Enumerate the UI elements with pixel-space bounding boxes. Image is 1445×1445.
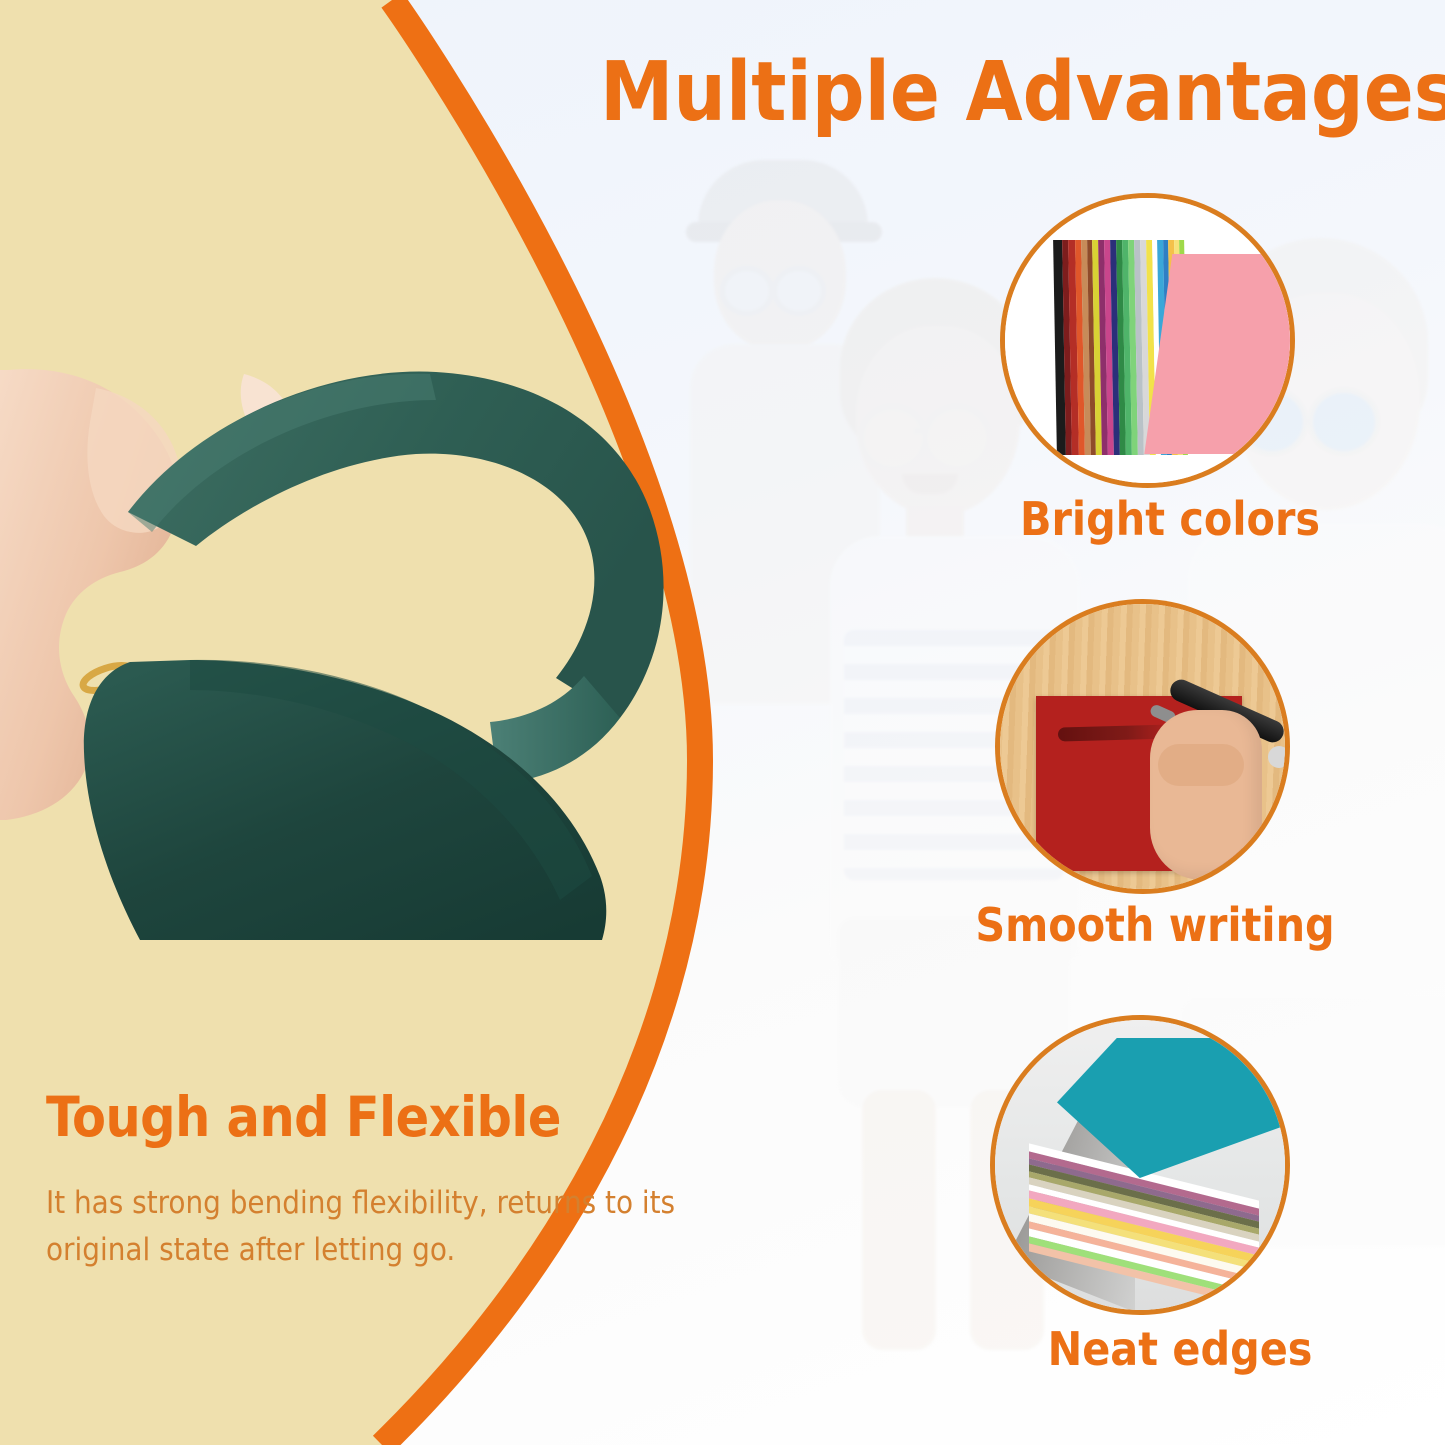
sunglass-lens-left	[858, 404, 928, 472]
sunglass-lens-right	[922, 404, 992, 472]
product-advantages-infographic: Multiple Advantages Tough and Flexible I…	[0, 0, 1445, 1445]
pen-cap	[1268, 746, 1285, 768]
knuckles-shade	[1158, 744, 1244, 786]
feature-label-smooth-writing: Smooth writing	[940, 898, 1370, 952]
fanned-sheets-group	[1044, 240, 1290, 455]
page-title: Multiple Advantages	[600, 52, 1445, 134]
left-panel-heading: Tough and Flexible	[46, 1085, 706, 1149]
feature-label-bright-colors: Bright colors	[960, 492, 1380, 546]
feature-image-neat-edges	[995, 1020, 1285, 1310]
hand-bending-cardstock-photo	[0, 360, 700, 940]
sunglass-lens-right	[1308, 388, 1380, 456]
writing-hand	[1150, 710, 1262, 880]
feature-image-smooth-writing	[1000, 604, 1285, 889]
left-panel-body-text: It has strong bending flexibility, retur…	[46, 1180, 746, 1274]
sunglass-bridge	[914, 428, 926, 434]
feature-label-neat-edges: Neat edges	[980, 1322, 1380, 1376]
leg-left	[862, 1090, 936, 1350]
feature-image-bright-colors	[1005, 198, 1290, 483]
